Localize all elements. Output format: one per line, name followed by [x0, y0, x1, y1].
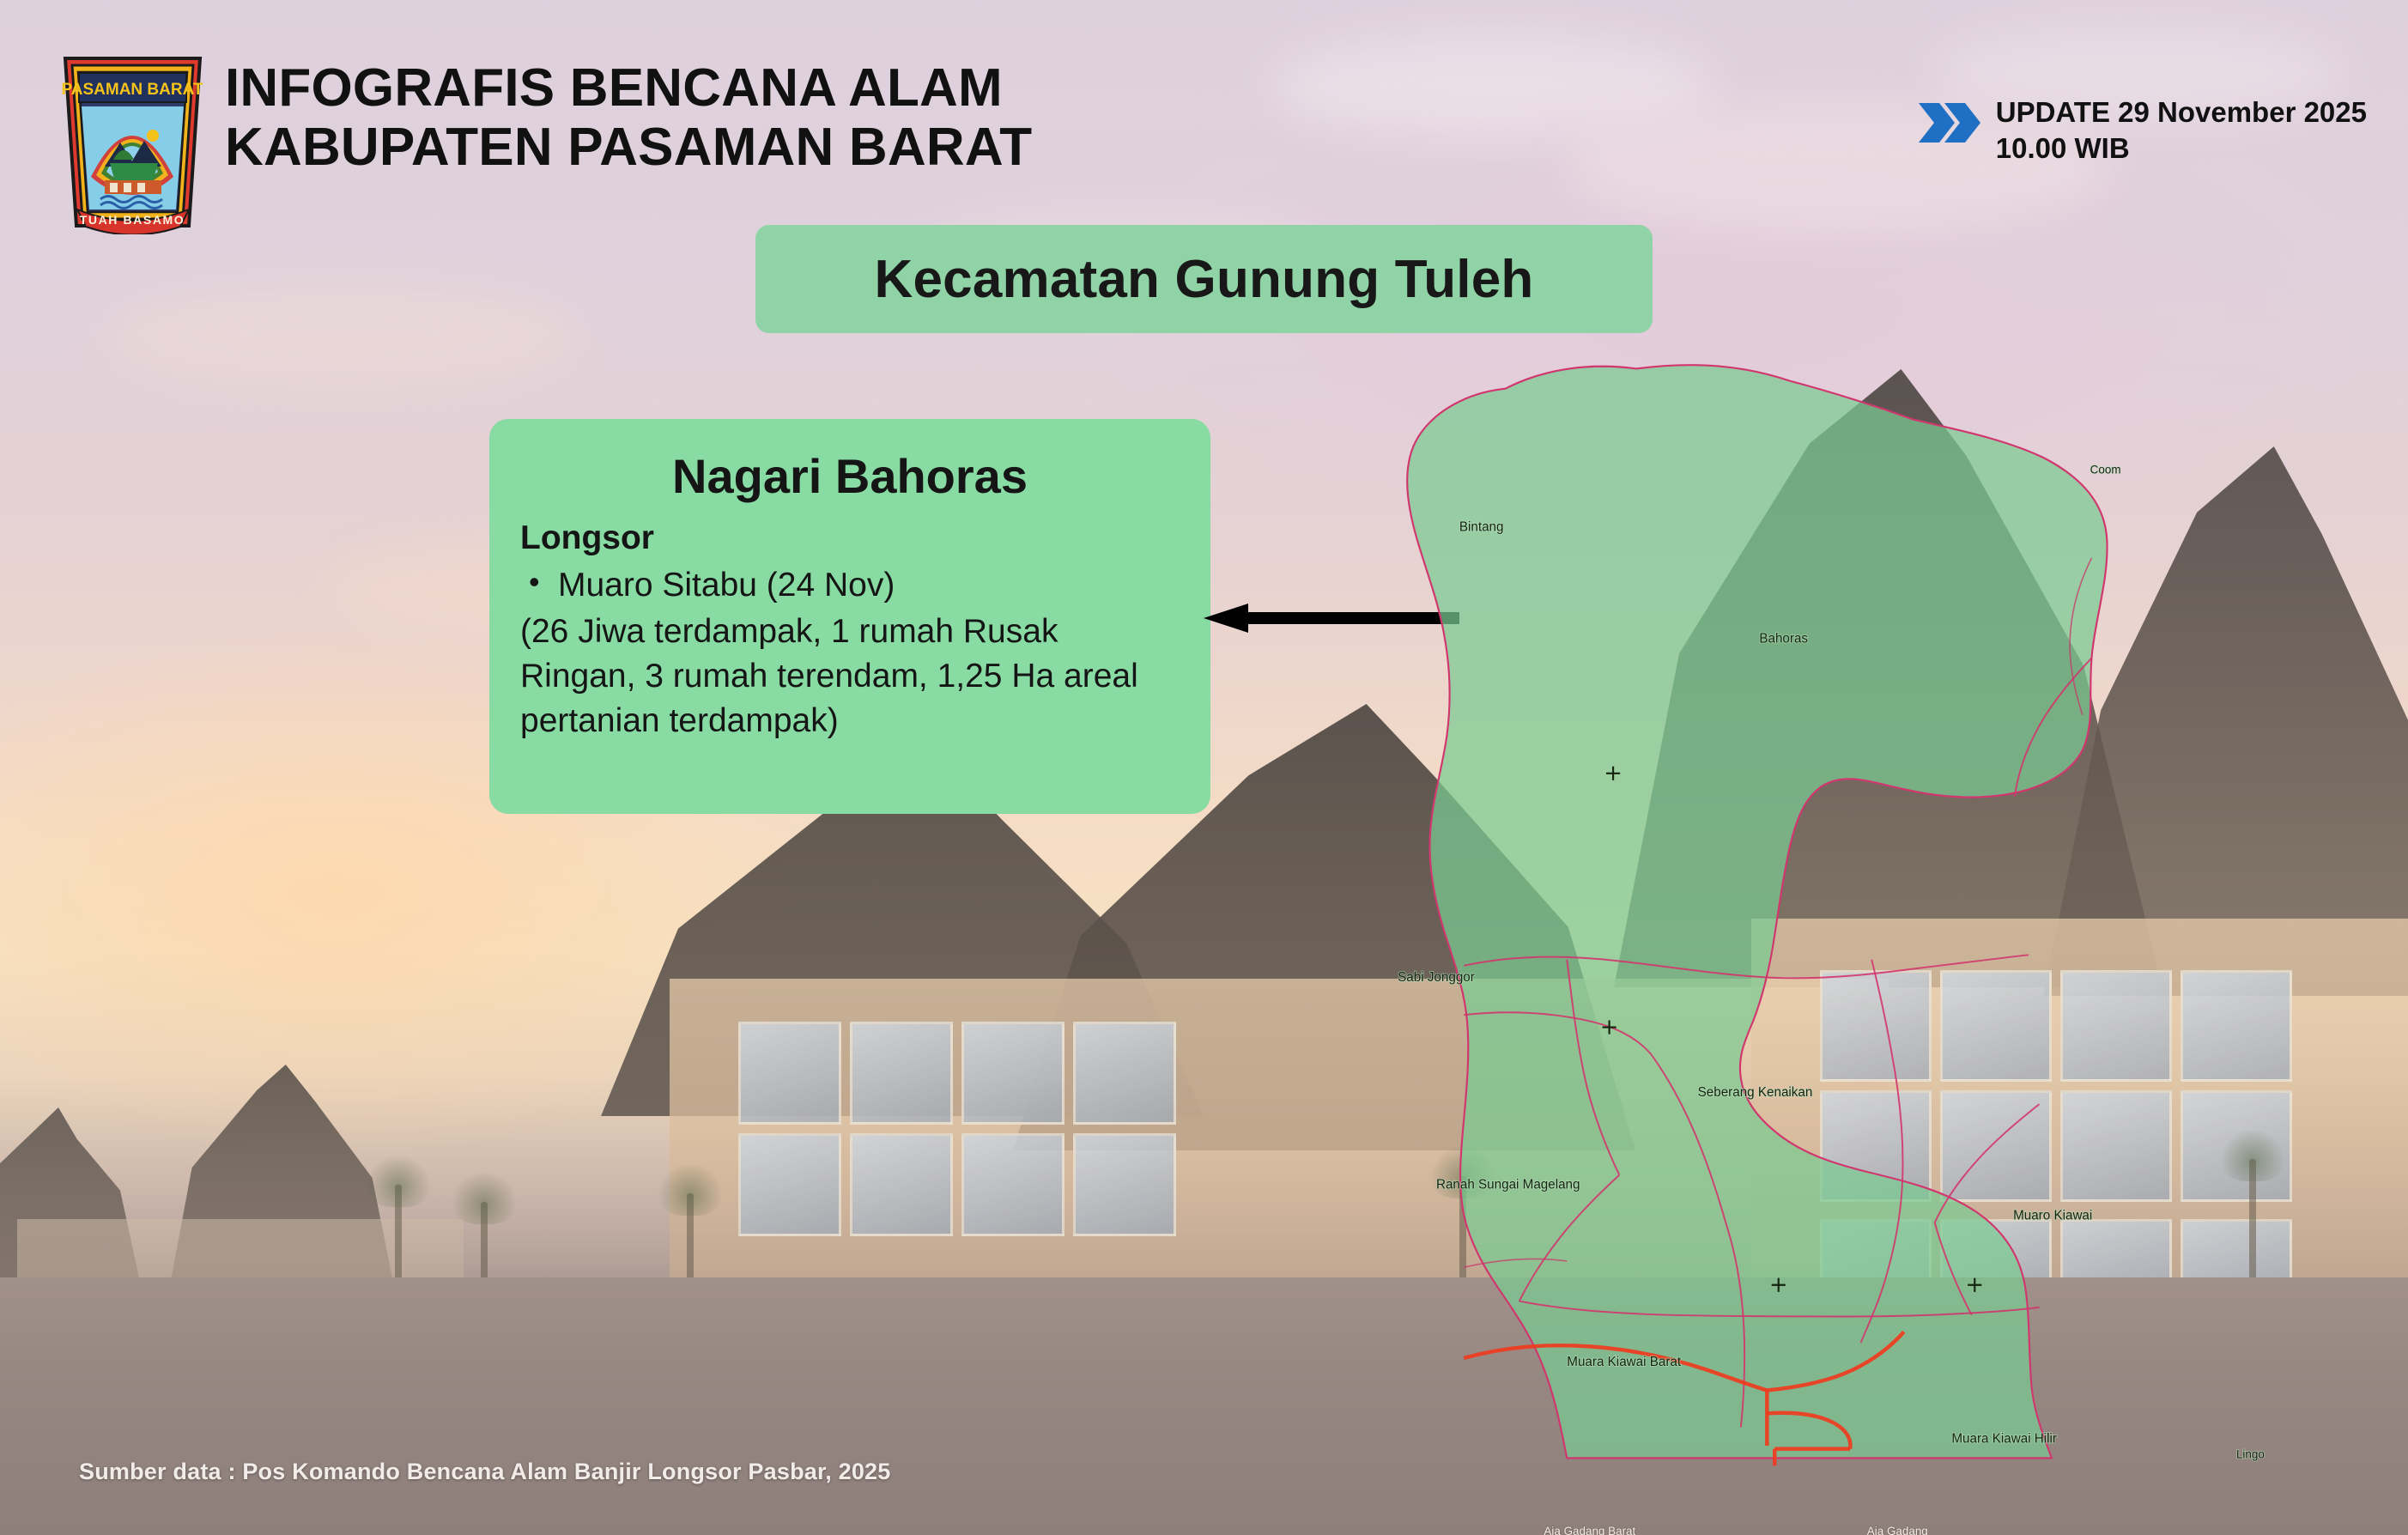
map-label: Bahoras	[1759, 631, 1808, 646]
kecamatan-label: Kecamatan Gunung Tuleh	[875, 249, 1534, 310]
map-ground-label: Aia Gadang Barat	[1544, 1525, 1635, 1535]
map-region-fill	[1407, 365, 2107, 1458]
title-line-1: INFOGRAFIS BENCANA ALAM	[225, 58, 1032, 118]
list-item: Muaro Sitabu (24 Nov)	[558, 563, 1180, 607]
pasaman-barat-crest-icon: PASAMAN BARAT TUA	[53, 50, 212, 234]
map-label: Coom	[2090, 463, 2121, 476]
update-time: 10.00 WIB	[1996, 130, 2367, 167]
update-stamp: UPDATE 29 November 2025 10.00 WIB	[1917, 94, 2367, 167]
map-label: Seberang Kenaikan	[1698, 1085, 1813, 1100]
map-label: Lingo	[2236, 1447, 2265, 1460]
title-line-2: KABUPATEN PASAMAN BARAT	[225, 118, 1032, 177]
page-title: INFOGRAFIS BENCANA ALAM KABUPATEN PASAMA…	[225, 58, 1032, 178]
map-label: Muaro Kiawai	[2013, 1209, 2092, 1223]
disaster-type-label: Longsor	[520, 519, 1180, 559]
cloud-decoration	[103, 283, 584, 386]
incident-list: Muaro Sitabu (24 Nov)	[558, 563, 1180, 607]
map-label: Bintang	[1459, 520, 1504, 535]
nagari-title: Nagari Bahoras	[520, 450, 1180, 503]
map-label: Muara Kiawai Barat	[1567, 1355, 1682, 1369]
crest-motto-ribbon-label: TUAH BASAMO	[80, 213, 185, 227]
map-label: Muara Kiawai Hilir	[1951, 1431, 2057, 1446]
update-text: UPDATE 29 November 2025 10.00 WIB	[1996, 94, 2367, 167]
double-chevron-right-icon	[1917, 100, 1980, 150]
poster-header: PASAMAN BARAT TUA	[0, 0, 2408, 232]
kecamatan-banner: Kecamatan Gunung Tuleh	[755, 225, 1653, 333]
crest-top-band-label: PASAMAN BARAT	[61, 81, 203, 99]
map-label: Ranah Sungai Magelang	[1436, 1178, 1580, 1192]
infographic-poster: PASAMAN BARAT TUA	[0, 0, 2408, 1535]
window-grid	[738, 1022, 1176, 1236]
nagari-info-card: Nagari Bahoras Longsor Muaro Sitabu (24 …	[489, 419, 1210, 814]
kecamatan-gunung-tuleh-map: Bintang Coom Bahoras Sabi Jonggor Sebera…	[1253, 335, 2404, 1535]
map-ground-label: Aia Gadang	[1867, 1525, 1928, 1535]
map-label: Sabi Jonggor	[1398, 970, 1475, 985]
impact-summary: (26 Jiwa terdampak, 1 rumah Rusak Ringan…	[520, 610, 1180, 743]
source-footer: Sumber data : Pos Komando Bencana Alam B…	[79, 1459, 890, 1485]
update-date: UPDATE 29 November 2025	[1996, 94, 2367, 130]
